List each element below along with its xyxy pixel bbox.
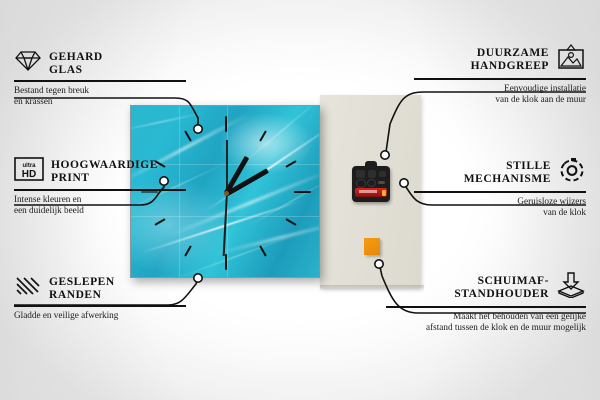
ultra-hd-icon: ultra HD	[14, 157, 44, 186]
callout-gehard-glas[interactable]: GEHARD GLAS Bestand tegen breuk en krass…	[14, 50, 186, 107]
callout-rule	[414, 78, 586, 80]
callout-rule	[14, 189, 186, 191]
callout-title: SCHUIMAF-	[454, 275, 549, 288]
diamond-icon	[14, 50, 42, 77]
callout-rule	[14, 80, 186, 82]
callout-rule	[14, 305, 186, 307]
callout-title-2: HANDGREEP	[471, 60, 549, 73]
callout-stille-mechanisme[interactable]: STILLE MECHANISME Geruisloze wijzers van…	[414, 157, 586, 218]
callout-description: Maakt het behouden van een gelijke	[386, 311, 586, 322]
beveled-edges-icon	[14, 275, 42, 302]
callout-rule	[414, 191, 586, 193]
callout-description: Eenvoudige installatie	[414, 83, 586, 94]
callout-description-2: een duidelijk beeld	[14, 205, 186, 216]
second-hand-tail	[226, 140, 228, 193]
callout-rule	[386, 306, 586, 308]
callout-description: Gladde en veilige afwerking	[14, 310, 186, 321]
callout-description: Bestand tegen breuk	[14, 85, 186, 96]
callout-hoogwaardige-print[interactable]: ultra HD HOOGWAARDIGE PRINT Intense kleu…	[14, 157, 186, 216]
clock-mechanism	[352, 166, 390, 202]
callout-title: HOOGWAARDIGE	[51, 159, 158, 172]
callout-title-2: GLAS	[49, 64, 103, 77]
callout-description-2: van de klok	[414, 207, 586, 218]
gear-icon	[558, 157, 586, 188]
callout-description: Geruisloze wijzers	[414, 196, 586, 207]
callout-title-2: STANDHOUDER	[454, 288, 549, 301]
callout-description: Intense kleuren en	[14, 194, 186, 205]
callout-title: GESLEPEN	[49, 276, 115, 289]
callout-title-2: PRINT	[51, 172, 158, 185]
callout-title: STILLE	[464, 160, 551, 173]
foam-spacer-icon	[556, 272, 586, 303]
callout-geslepen-randen[interactable]: GESLEPEN RANDEN Gladde en veilige afwerk…	[14, 275, 186, 321]
tick-12	[225, 116, 227, 132]
callout-description-2: van de klok aan de muur	[414, 94, 586, 105]
callout-description-2: afstand tussen de klok en de muur mogeli…	[386, 322, 586, 333]
mechanism-hook	[365, 161, 377, 168]
mechanism-battery	[355, 188, 387, 197]
tick-3	[294, 191, 311, 193]
foam-spacer-part	[364, 238, 380, 255]
tick-6	[225, 254, 227, 270]
wall-hanging-icon	[556, 44, 586, 75]
callout-title: DUURZAME	[471, 47, 549, 60]
hands-center-cap	[224, 191, 229, 196]
callout-title: GEHARD	[49, 51, 103, 64]
svg-text:HD: HD	[22, 169, 36, 180]
callout-title-2: RANDEN	[49, 289, 115, 302]
callout-duurzame-handgreep[interactable]: DUURZAME HANDGREEP Eenvoudige installati…	[414, 44, 586, 105]
infographic-canvas: GEHARD GLAS Bestand tegen breuk en krass…	[0, 0, 600, 400]
callout-description-2: en krassen	[14, 96, 186, 107]
callout-schuimafstandhouder[interactable]: SCHUIMAF- STANDHOUDER Maakt het behouden…	[386, 272, 586, 333]
callout-title-2: MECHANISME	[464, 173, 551, 186]
